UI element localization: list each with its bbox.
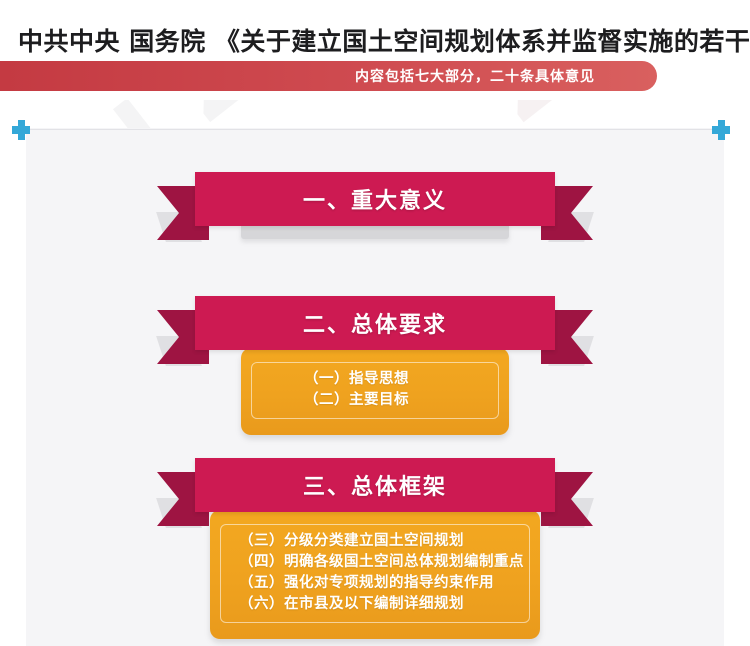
infographic-page: DI ZHI DI ZHI ZHI 中共中央 国务院 《关于建立国土空间规划体系… [0, 0, 750, 646]
list-item-index: （一） [304, 369, 349, 390]
divider-line [26, 129, 724, 130]
list-item: （五） 强化对专项规划的指导约束作用 [221, 573, 529, 594]
section-heading: 一、重大意义 [303, 183, 447, 215]
list-item: （三） 分级分类建立国土空间规划 [221, 531, 529, 552]
section-heading: 三、总体框架 [303, 469, 447, 501]
list-item-label: 在市县及以下编制详细规划 [284, 594, 464, 615]
list-item-index: （四） [239, 552, 284, 573]
list-item-label: 强化对专项规划的指导约束作用 [284, 573, 494, 594]
list-item-index: （六） [239, 594, 284, 615]
section-general-requirements: 二、总体要求 （一） 指导思想 （二） 主要目标 [0, 296, 750, 435]
list-item-index: （二） [304, 390, 349, 411]
ribbon-banner: 二、总体要求 [195, 296, 555, 350]
section-item-box-inner: （一） 指导思想 （二） 主要目标 [251, 362, 499, 419]
list-item-index: （五） [239, 573, 284, 594]
plus-icon [712, 120, 730, 140]
plus-icon [12, 120, 30, 140]
section-heading: 二、总体要求 [303, 307, 447, 339]
ribbon-banner: 一、重大意义 [195, 172, 555, 226]
section-item-box: （一） 指导思想 （二） 主要目标 [241, 348, 509, 435]
divider-row [0, 118, 750, 140]
page-title: 中共中央 国务院 《关于建立国土空间规划体系并监督实施的若干意见》 [18, 22, 750, 58]
header: 中共中央 国务院 《关于建立国土空间规划体系并监督实施的若干意见》 内容包括七大… [0, 0, 750, 100]
ribbon-banner: 三、总体框架 [195, 458, 555, 512]
ribbon-body: 一、重大意义 [195, 172, 555, 226]
list-item-index: （三） [239, 531, 284, 552]
subtitle-text: 内容包括七大部分，二十条具体意见 [355, 66, 595, 86]
list-item: （二） 主要目标 [252, 390, 498, 411]
list-item-label: 指导思想 [349, 369, 409, 390]
section-base-bar [241, 225, 509, 239]
ribbon-body: 三、总体框架 [195, 458, 555, 512]
list-item: （六） 在市县及以下编制详细规划 [221, 594, 529, 615]
list-item: （四） 明确各级国土空间总体规划编制重点 [221, 552, 529, 573]
ribbon-body: 二、总体要求 [195, 296, 555, 350]
list-item-label: 分级分类建立国土空间规划 [284, 531, 464, 552]
list-item: （一） 指导思想 [252, 369, 498, 390]
section-overall-framework: 三、总体框架 （三） 分级分类建立国土空间规划 （四） 明确各级国土空间总体规划… [0, 458, 750, 639]
section-item-box: （三） 分级分类建立国土空间规划 （四） 明确各级国土空间总体规划编制重点 （五… [210, 510, 540, 639]
section-item-box-inner: （三） 分级分类建立国土空间规划 （四） 明确各级国土空间总体规划编制重点 （五… [220, 524, 530, 623]
subtitle-bar: 内容包括七大部分，二十条具体意见 [0, 61, 657, 91]
section-major-significance: 一、重大意义 [0, 172, 750, 239]
list-item-label: 明确各级国土空间总体规划编制重点 [284, 552, 524, 573]
list-item-label: 主要目标 [349, 390, 409, 411]
